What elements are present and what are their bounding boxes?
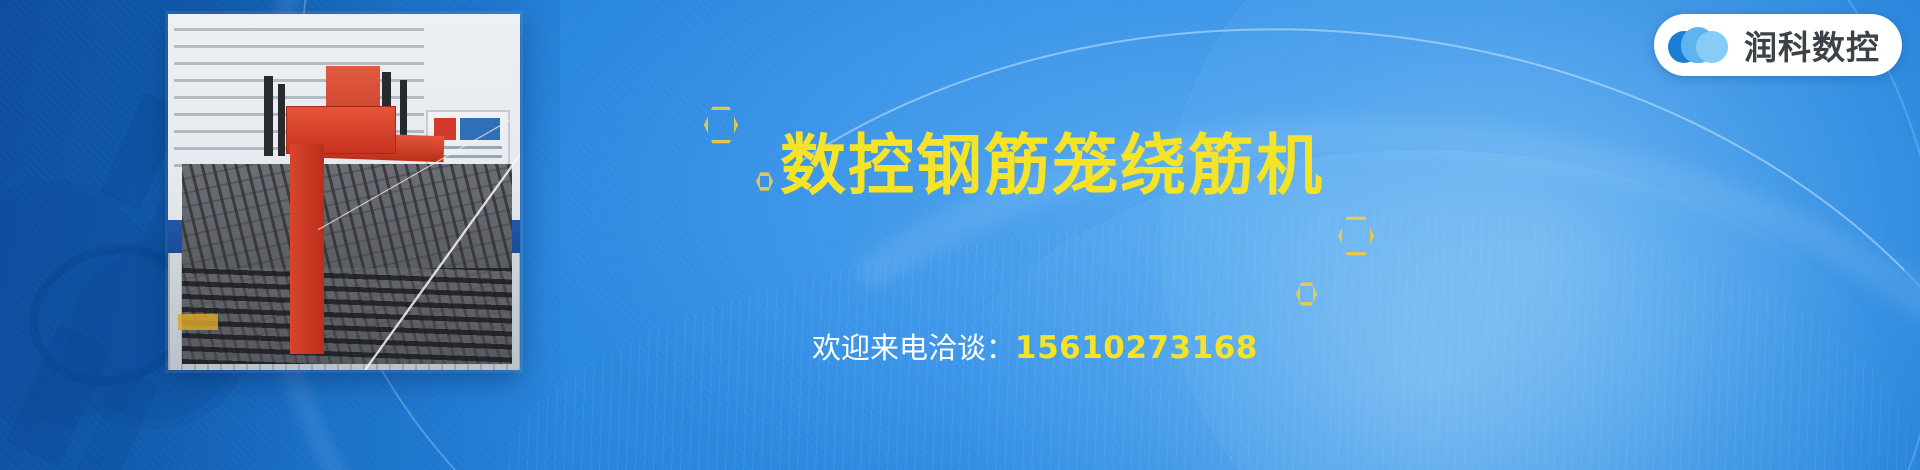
company-logo[interactable]: 润科数控 <box>1654 14 1902 76</box>
banner-headline: 数控钢筋笼绕筋机 <box>780 133 1324 199</box>
photo-yellow-marker <box>178 314 218 330</box>
photo-post-2 <box>278 84 285 156</box>
hexagon-icon-large-right <box>1338 216 1374 256</box>
photo-cable-2 <box>318 110 520 230</box>
photo-post-1 <box>264 76 273 156</box>
hexagon-icon-small-left <box>756 172 773 191</box>
hexagon-icon-large-left <box>704 106 738 144</box>
contact-line: 欢迎来电洽谈：15610273168 <box>812 333 1258 364</box>
phone-number: 15610273168 <box>1015 330 1258 366</box>
product-photo <box>168 14 520 370</box>
contact-label: 欢迎来电洽谈： <box>812 331 1015 365</box>
hexagon-icon-small-right <box>1296 282 1317 306</box>
product-banner: 数控钢筋笼绕筋机 欢迎来电洽谈：15610273168 润科数控 <box>0 0 1920 470</box>
logo-brand-name: 润科数控 <box>1744 21 1880 69</box>
overlapping-circles-icon <box>1668 25 1730 65</box>
